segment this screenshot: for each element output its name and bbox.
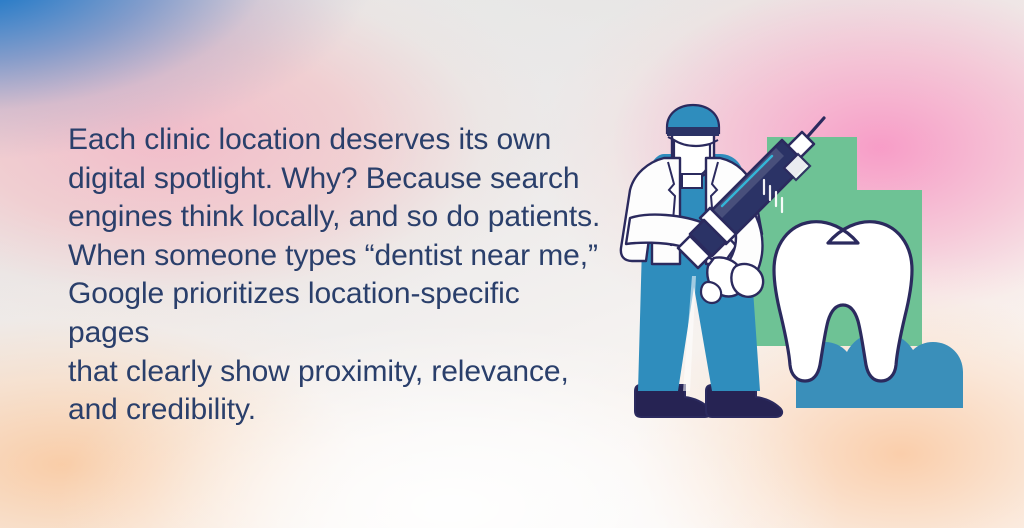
body-paragraph: Each clinic location deserves its own di… bbox=[68, 121, 608, 430]
dentist-illustration bbox=[612, 96, 952, 426]
copy-block: Each clinic location deserves its own di… bbox=[68, 121, 608, 430]
graphic-canvas: Each clinic location deserves its own di… bbox=[0, 0, 1024, 528]
